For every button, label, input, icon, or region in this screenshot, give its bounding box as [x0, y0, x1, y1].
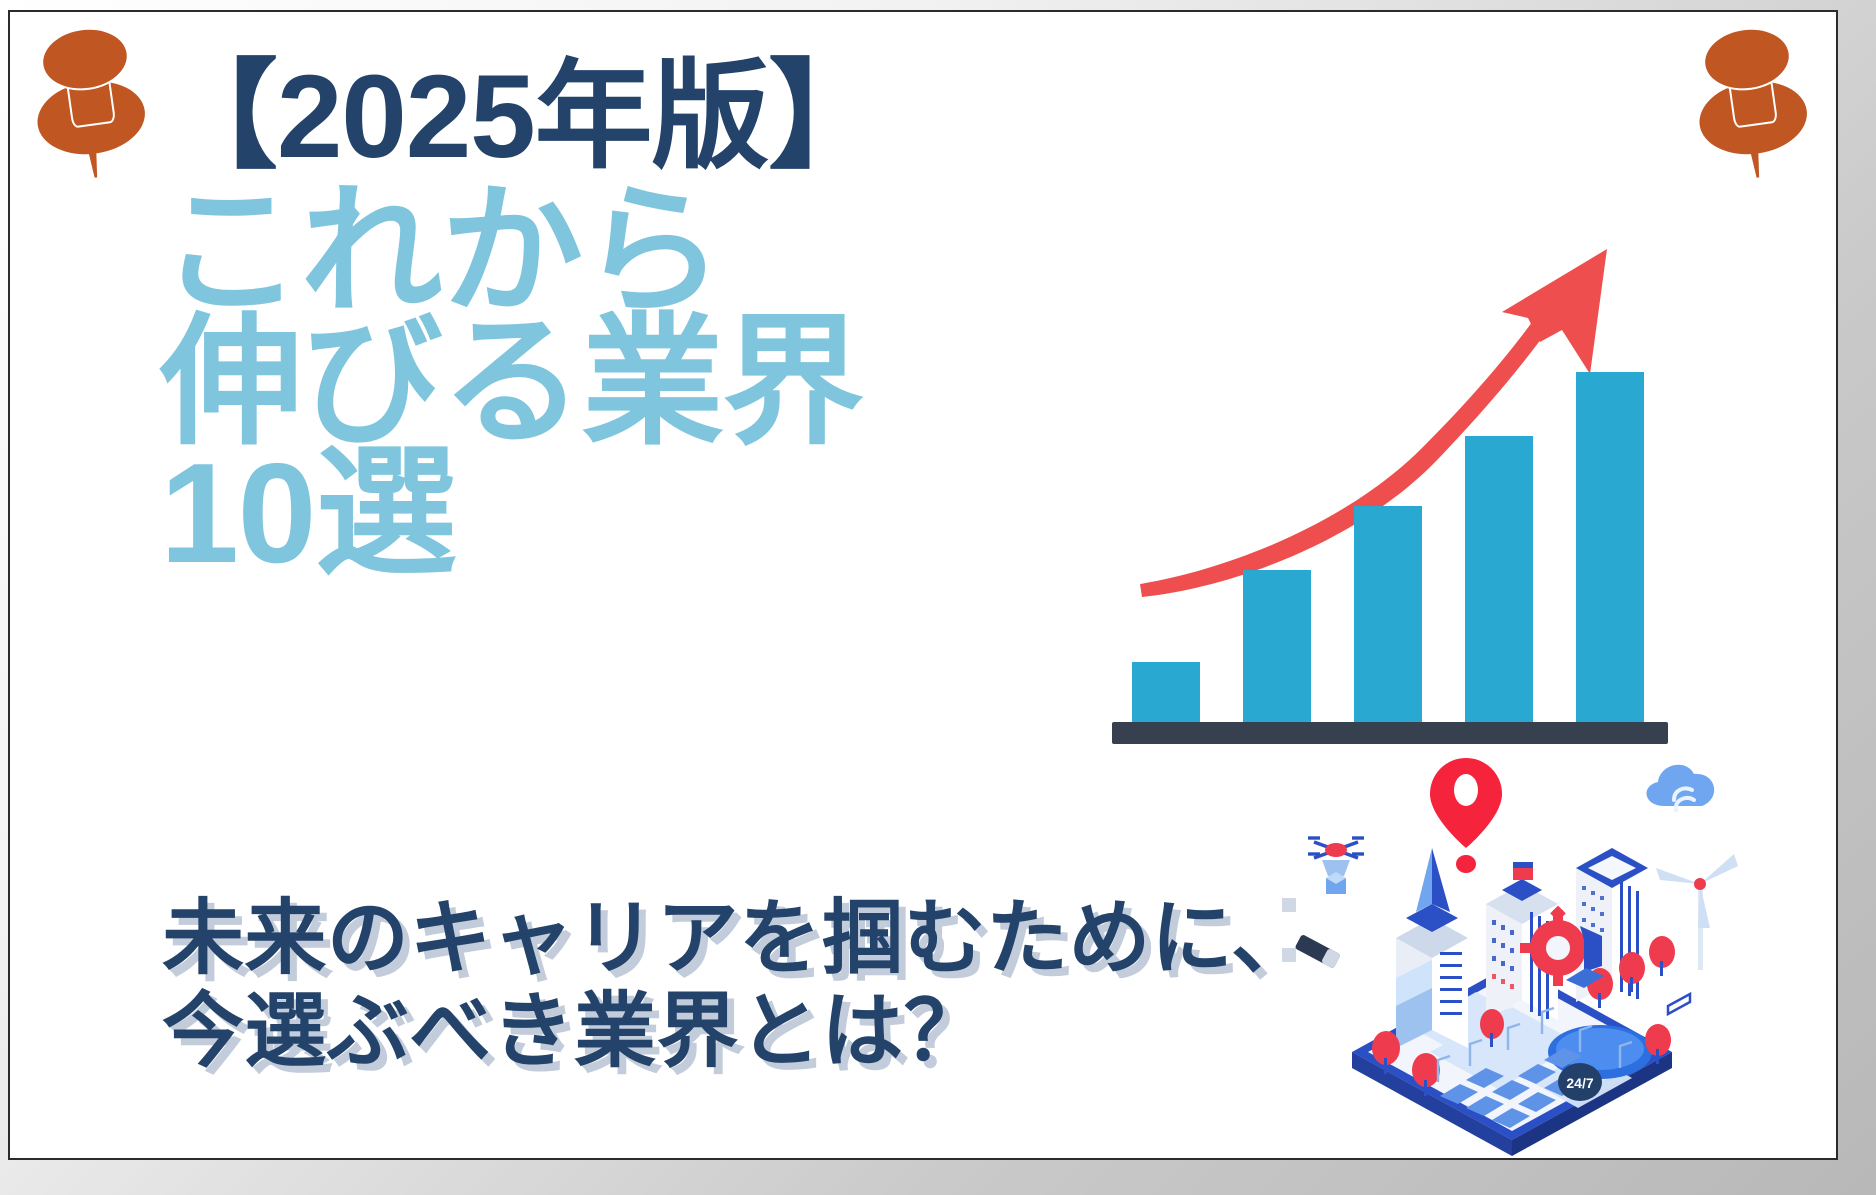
subtitle-block: 未来のキャリアを掴むために、 今選ぶべき業界とは？: [162, 892, 1222, 1079]
badge-24-7-label: 24/7: [1566, 1075, 1593, 1091]
drone-icon: [1308, 838, 1364, 894]
bar-1: [1132, 662, 1200, 724]
map-pin-icon: [1430, 758, 1502, 873]
smart-city-illustration: 24/7: [1280, 752, 1750, 1160]
headline-line-3: 10選: [160, 444, 1160, 583]
headline-block: 【2025年版】 これから 伸びる業界 10選: [160, 60, 1160, 583]
floating-chips: [1282, 898, 1341, 969]
bar-3: [1354, 506, 1422, 724]
bar-4: [1465, 436, 1533, 724]
pushpin-left-icon: [18, 12, 158, 177]
badge-24-7: 24/7: [1558, 1063, 1602, 1101]
bar-2: [1243, 570, 1311, 724]
desktop-backdrop: 【2025年版】 これから 伸びる業界 10選 未来のキャリアを掴むために、 今…: [0, 0, 1876, 1195]
building-spire-tower: [1396, 848, 1468, 1048]
subtitle-line-2: 今選ぶべき業界とは？: [162, 985, 1222, 1078]
wifi-cloud-icon: [1647, 765, 1715, 813]
park-bench: [1668, 994, 1690, 1014]
subtitle-line-1: 未来のキャリアを掴むために、: [162, 892, 1222, 985]
growth-bar-chart: [1110, 222, 1670, 752]
bar-5: [1576, 372, 1644, 724]
chart-baseline: [1112, 722, 1668, 744]
slide-card: 【2025年版】 これから 伸びる業界 10選 未来のキャリアを掴むために、 今…: [8, 10, 1838, 1160]
headline-line-2: 伸びる業界: [160, 313, 1160, 452]
headline-year-bracket: 【2025年版】: [160, 60, 1160, 176]
pushpin-right-icon: [1680, 12, 1820, 177]
headline-line-1: これから: [160, 182, 1160, 321]
